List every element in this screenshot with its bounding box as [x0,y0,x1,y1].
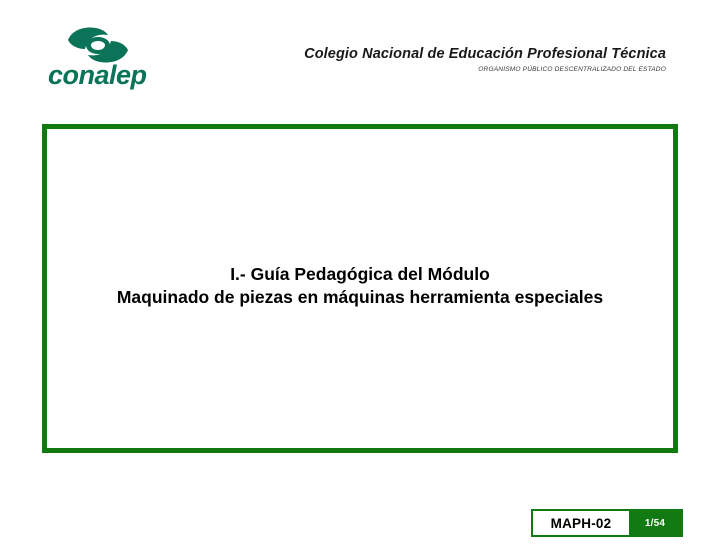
conalep-swirl-mark-icon [66,26,130,64]
footer-badge: MAPH-02 1/54 [531,509,683,537]
slide-title-block: I.- Guía Pedagógica del Módulo Maquinado… [47,263,673,309]
institution-title: Colegio Nacional de Educación Profesiona… [304,46,666,63]
slide-title-line-1: I.- Guía Pedagógica del Módulo [47,263,673,286]
slide-title-line-2: Maquinado de piezas en máquinas herramie… [47,286,673,309]
slide-canvas: conalep Colegio Nacional de Educación Pr… [0,0,720,556]
content-frame: I.- Guía Pedagógica del Módulo Maquinado… [42,124,678,453]
conalep-wordmark: conalep [48,62,198,89]
conalep-logo: conalep [48,26,198,94]
module-code-label: MAPH-02 [533,511,629,535]
institution-subtitle: ORGANISMO PÚBLICO DESCENTRALIZADO DEL ES… [304,66,666,73]
page-indicator-label: 1/54 [629,511,681,535]
institution-header: Colegio Nacional de Educación Profesiona… [304,46,666,73]
